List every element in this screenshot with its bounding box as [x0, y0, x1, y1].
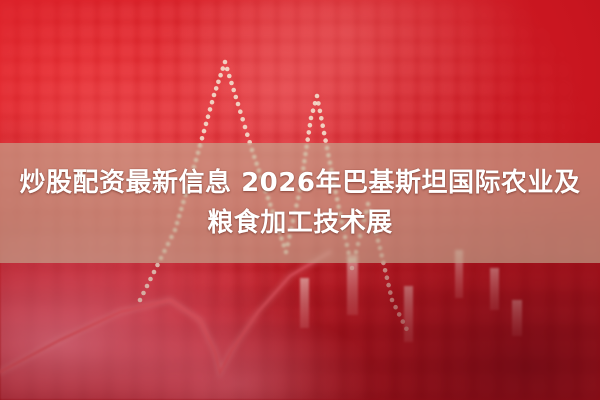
chart-dot	[208, 107, 213, 112]
chart-dot	[401, 319, 406, 324]
chart-dot	[202, 129, 207, 134]
chart-dot	[311, 108, 316, 113]
chart-dot	[315, 94, 320, 99]
chart-dot	[212, 93, 217, 98]
chart-dot	[216, 80, 221, 85]
chart-dot	[148, 277, 153, 282]
chart-dot	[390, 298, 395, 303]
chart-dot	[318, 109, 323, 114]
chart-dot	[225, 67, 230, 72]
candlestick-bar	[512, 300, 522, 336]
chart-dot	[152, 270, 157, 275]
candlestick-bar	[300, 278, 309, 328]
candlestick-bar	[404, 286, 413, 342]
chart-dot	[245, 132, 250, 137]
chart-dot	[218, 73, 223, 78]
chart-dot	[200, 136, 205, 141]
chart-dot	[350, 266, 355, 271]
chart-dot	[204, 122, 209, 127]
chart-dot	[316, 101, 321, 106]
chart-dot	[319, 116, 324, 121]
chart-dot	[307, 130, 312, 135]
chart-dot	[210, 100, 215, 105]
chart-dot	[397, 312, 402, 317]
swoop-curve-line	[0, 252, 330, 372]
chart-dot	[322, 131, 327, 136]
chart-dot	[308, 123, 313, 128]
chart-dot	[305, 137, 310, 142]
chart-dot	[236, 102, 241, 107]
chart-dot	[141, 291, 146, 296]
chart-dot	[227, 74, 232, 79]
chart-dot	[243, 125, 248, 130]
chart-dot	[206, 114, 211, 119]
candlestick-bars	[300, 250, 522, 342]
chart-dot	[238, 109, 243, 114]
candlestick-bar	[490, 268, 499, 310]
promo-banner: 炒股配资最新信息 2026年巴基斯坦国际农业及粮食加工技术展	[0, 0, 600, 400]
page-title: 炒股配资最新信息 2026年巴基斯坦国际农业及粮食加工技术展	[16, 163, 584, 243]
chart-dot	[145, 284, 150, 289]
chart-dot	[386, 283, 391, 288]
chart-dot	[221, 66, 226, 71]
banner-title-container: 炒股配资最新信息 2026年巴基斯坦国际农业及粮食加工技术展	[0, 143, 600, 263]
chart-dot	[231, 88, 236, 93]
chart-dot	[404, 327, 409, 332]
chart-dot	[234, 95, 239, 100]
chart-dot	[229, 81, 234, 86]
chart-dot	[138, 298, 143, 303]
chart-dot	[240, 117, 245, 122]
chart-dot	[223, 60, 228, 65]
chart-dot	[383, 268, 388, 273]
candlestick-bar	[347, 255, 358, 315]
chart-dot	[385, 275, 390, 280]
chart-dot	[155, 263, 160, 268]
chart-dot	[320, 123, 325, 128]
chart-dot	[393, 305, 398, 310]
swoop-curve-echo	[0, 252, 330, 372]
chart-dot	[309, 116, 314, 121]
chart-dot	[388, 290, 393, 295]
chart-dot	[214, 86, 219, 91]
